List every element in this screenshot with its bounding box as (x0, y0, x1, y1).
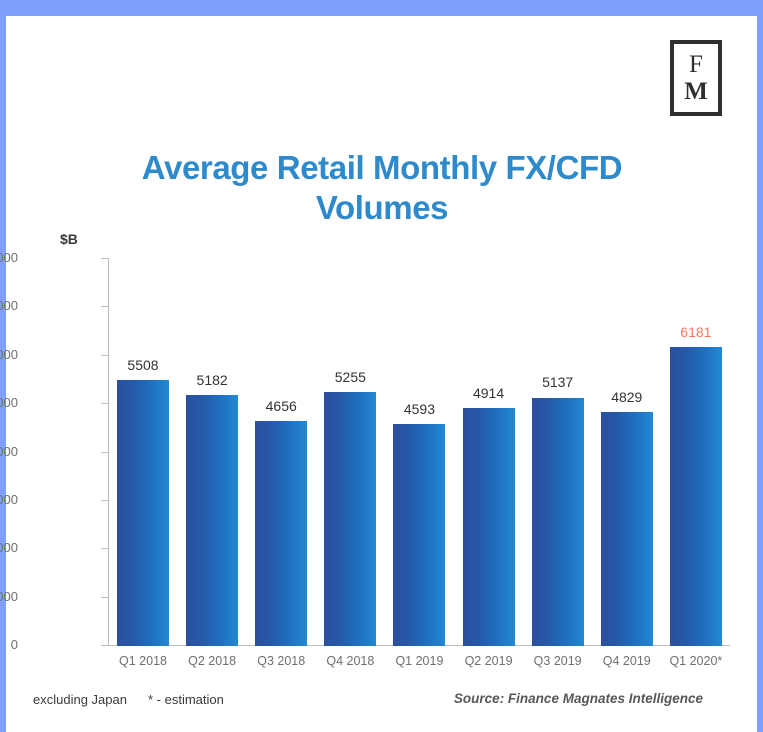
y-axis-tick-label: 2000 (0, 540, 18, 555)
bar[interactable] (393, 424, 445, 646)
y-axis-tick-label: 3000 (0, 492, 18, 507)
footnote-excluding-japan: excluding Japan (33, 692, 127, 707)
bar-value-label: 5255 (315, 369, 385, 385)
frame-top-border (0, 0, 763, 16)
bar-group: 4656Q3 2018 (246, 258, 315, 646)
bar-value-label: 4914 (454, 385, 524, 401)
bar-group: 5255Q4 2018 (315, 258, 384, 646)
bar-value-label: 5508 (108, 357, 178, 373)
x-axis-category-label: Q2 2018 (177, 654, 247, 668)
x-axis-category-label: Q1 2018 (108, 654, 178, 668)
bar-group: 5508Q1 2018 (108, 258, 177, 646)
y-axis-tick-label: 4000 (0, 444, 18, 459)
y-axis-unit-label: $B (60, 231, 78, 247)
x-axis-category-label: Q4 2018 (315, 654, 385, 668)
y-axis-tick-label: 0 (0, 637, 18, 652)
y-axis-tick-label: 8000 (0, 250, 18, 265)
frame-left-border (0, 16, 6, 732)
bar-group: 6181Q1 2020* (661, 258, 730, 646)
bar[interactable] (463, 408, 515, 646)
y-axis-tick-label: 6000 (0, 347, 18, 362)
bar-series: 5508Q1 20185182Q2 20184656Q3 20185255Q4 … (108, 258, 730, 646)
bar[interactable] (532, 398, 584, 647)
finance-magnates-logo: F M (670, 40, 722, 116)
bar-value-label: 5137 (523, 374, 593, 390)
chart-page: F M Average Retail Monthly FX/CFD Volume… (0, 0, 763, 732)
bar[interactable] (117, 380, 169, 646)
bar-group: 4829Q4 2019 (592, 258, 661, 646)
x-axis-category-label: Q4 2019 (592, 654, 662, 668)
bar-value-label: 6181 (661, 324, 731, 340)
bar-chart-plot-area: 010002000300040005000600070008000 5508Q1… (40, 258, 730, 658)
bar-group: 4914Q2 2019 (454, 258, 523, 646)
bar-group: 5137Q3 2019 (523, 258, 592, 646)
y-axis-tick-label: 1000 (0, 589, 18, 604)
x-axis-category-label: Q1 2019 (384, 654, 454, 668)
bar-value-label: 4593 (384, 401, 454, 417)
bar[interactable] (601, 412, 653, 646)
bar-value-label: 4656 (246, 398, 316, 414)
frame-right-border (757, 16, 763, 732)
logo-letter-f: F (689, 51, 703, 78)
bar-value-label: 5182 (177, 372, 247, 388)
bar[interactable] (255, 421, 307, 646)
bar-group: 4593Q1 2019 (384, 258, 453, 646)
x-axis-category-label: Q3 2019 (523, 654, 593, 668)
x-axis-category-label: Q1 2020* (661, 654, 731, 668)
bar-group: 5182Q2 2018 (177, 258, 246, 646)
logo-letter-m: M (684, 78, 708, 105)
x-axis-category-label: Q3 2018 (246, 654, 316, 668)
y-axis-tick-label: 7000 (0, 298, 18, 313)
page-title: Average Retail Monthly FX/CFD Volumes (96, 148, 668, 228)
x-axis-category-label: Q2 2019 (454, 654, 524, 668)
bar[interactable] (324, 392, 376, 646)
bar[interactable] (670, 347, 722, 646)
y-axis-tick-label: 5000 (0, 395, 18, 410)
footnote-estimation: * - estimation (148, 692, 224, 707)
source-attribution: Source: Finance Magnates Intelligence (454, 691, 703, 706)
bar-value-label: 4829 (592, 389, 662, 405)
bar[interactable] (186, 395, 238, 646)
